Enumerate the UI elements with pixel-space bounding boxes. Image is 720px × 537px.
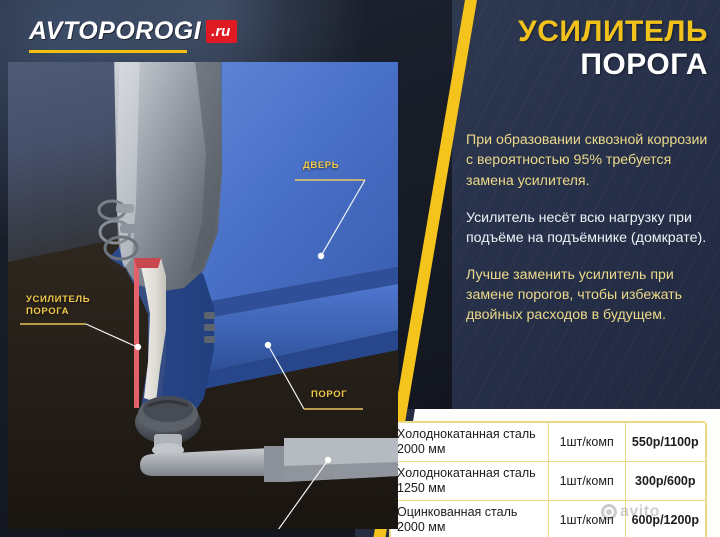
promo-banner: AVTOPOROGI .ru УСИЛИТЕЛЬ ПОРОГА При обра… [0, 0, 720, 537]
table-row: Оцинкованная сталь 2000 мм 1шт/комп 600р… [391, 501, 706, 537]
brand-logo-tld: .ru [206, 20, 237, 43]
car-sill-cross-section-diagram: ДВЕРЬ УСИЛИТЕЛЬ ПОРОГА ПОРОГ ПОДЪЁМНИК [8, 62, 398, 529]
table-row: Холоднокатанная сталь 2000 мм 1шт/комп 5… [391, 423, 706, 462]
product-price: 550р/1100р [625, 423, 705, 462]
product-name: Холоднокатанная сталь 2000 мм [391, 423, 549, 462]
page-title: УСИЛИТЕЛЬ ПОРОГА [470, 16, 708, 81]
corrosion-edge [134, 258, 139, 408]
diagram-label-door: ДВЕРЬ [303, 160, 339, 172]
description-block: При образовании сквозной коррозии с веро… [466, 116, 716, 342]
description-paragraph-3: Лучше заменить усилитель при замене поро… [466, 265, 716, 325]
diagram-label-sill: ПОРОГ [311, 389, 347, 401]
product-qty: 1шт/комп [548, 423, 625, 462]
seam-bolts [204, 312, 215, 343]
corrosion-edge-top [134, 258, 161, 268]
diagram-label-reinforcement: УСИЛИТЕЛЬ ПОРОГА [26, 294, 90, 317]
page-title-line-2: ПОРОГА [470, 48, 708, 82]
description-paragraph-1: При образовании сквозной коррозии с веро… [466, 130, 716, 190]
product-price: 600р/1200р [625, 501, 705, 537]
product-qty: 1шт/комп [548, 501, 625, 537]
description-paragraph-2: Усилитель несёт всю нагрузку при подъёме… [466, 208, 716, 248]
price-table: Холоднокатанная сталь 2000 мм 1шт/комп 5… [389, 421, 707, 537]
product-name: Холоднокатанная сталь 1250 мм [391, 462, 549, 501]
brand-logo-word: AVTOPOROGI [29, 19, 201, 44]
brand-logo[interactable]: AVTOPOROGI .ru [29, 19, 237, 44]
table-row: Холоднокатанная сталь 1250 мм 1шт/комп 3… [391, 462, 706, 501]
page-title-line-1: УСИЛИТЕЛЬ [470, 16, 708, 48]
product-name: Оцинкованная сталь 2000 мм [391, 501, 549, 537]
product-qty: 1шт/комп [548, 462, 625, 501]
brand-logo-underline [29, 50, 187, 53]
product-price: 300р/600р [625, 462, 705, 501]
